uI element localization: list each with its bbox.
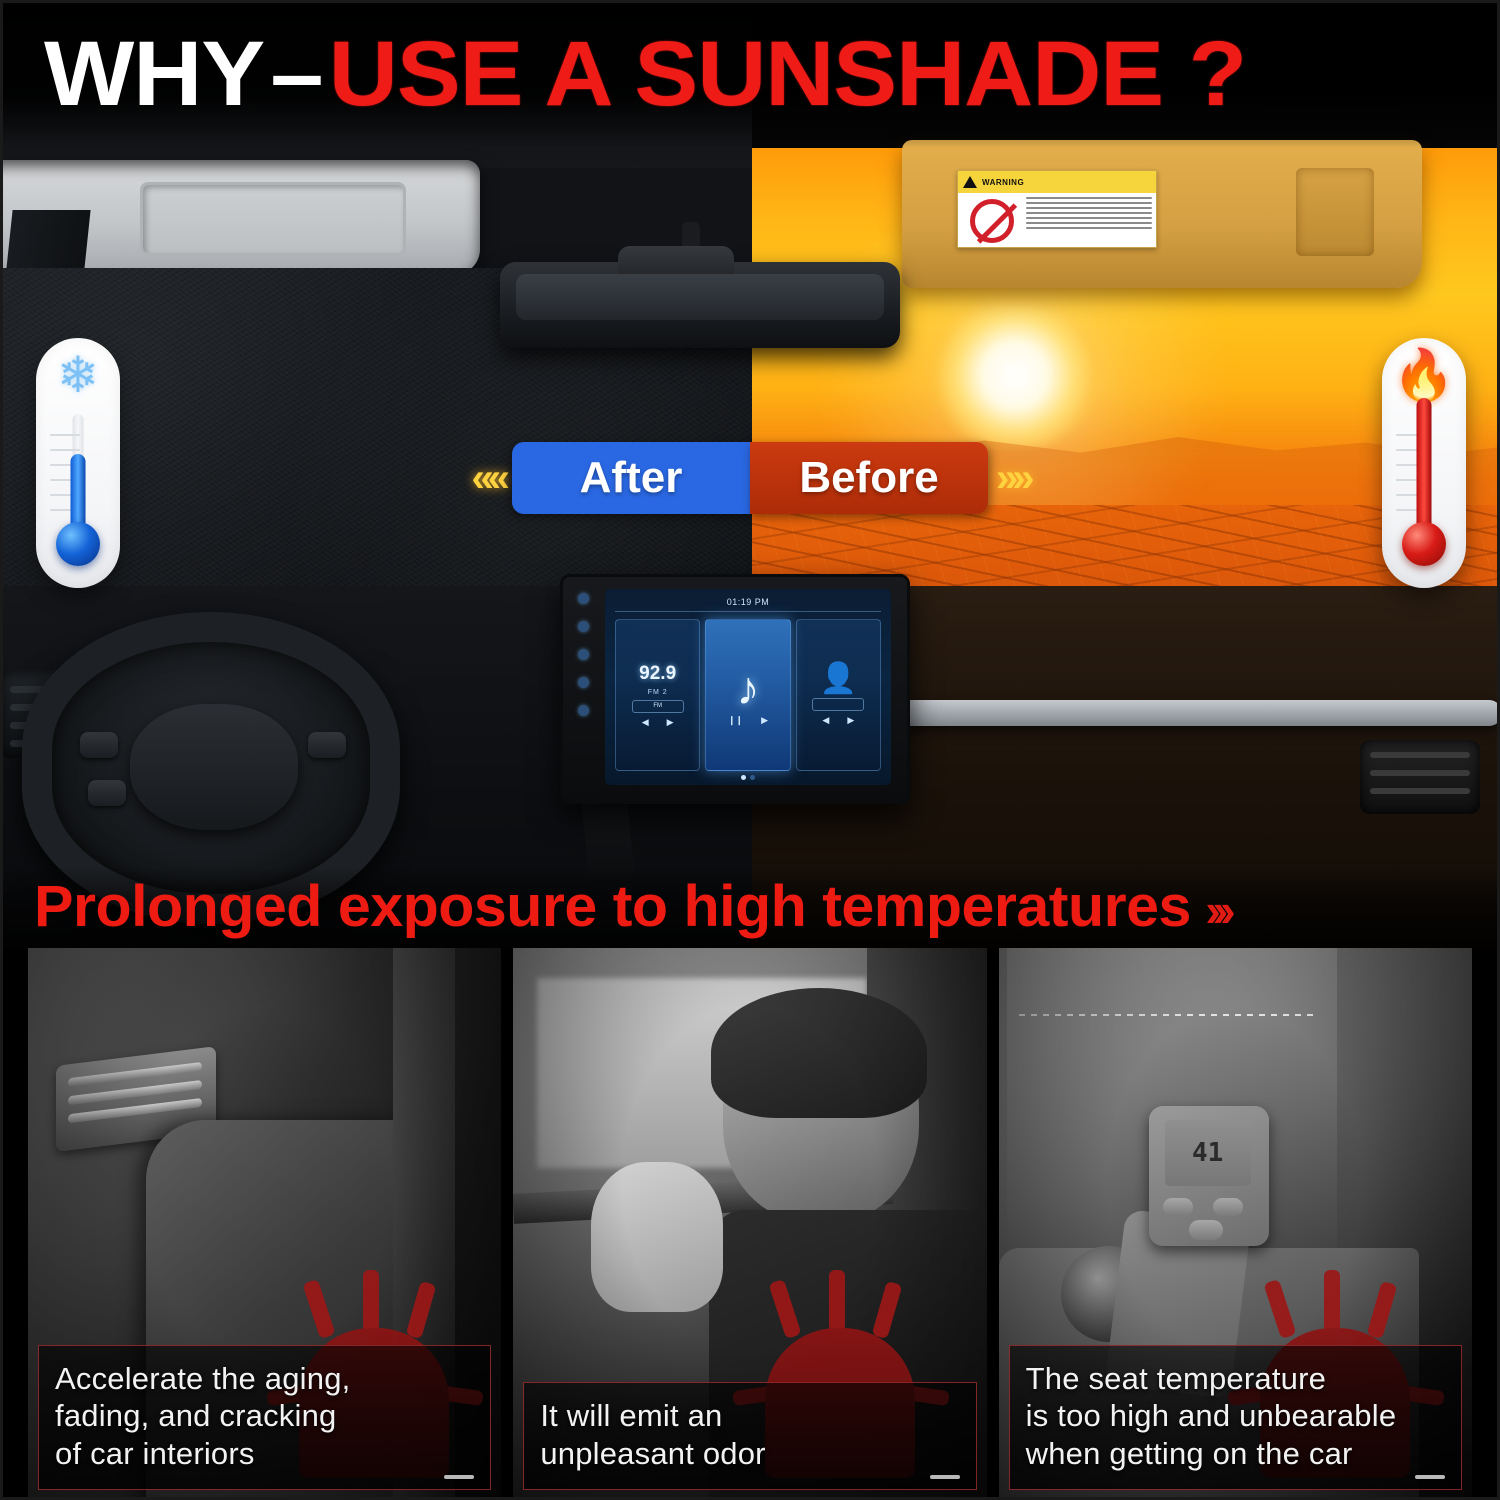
before-after-badge-group: «« After Before »» [0, 432, 1500, 524]
side-button-menu-icon[interactable] [578, 705, 589, 716]
page-title: WHY–USE A SUNSHADE ? [44, 28, 1246, 120]
side-button-nav-icon[interactable] [578, 677, 589, 688]
warning-label-header: WARNING [958, 171, 1156, 193]
snowflake-icon: ❄ [36, 350, 120, 400]
radio-prev-icon[interactable]: ◀ [642, 717, 649, 728]
before-badge[interactable]: Before [750, 442, 988, 514]
caption-line-3-1: The seat temperature [1026, 1360, 1445, 1398]
panel-caption-3: The seat temperature is too high and unb… [1009, 1345, 1462, 1490]
radio-tune-controls[interactable]: ◀ ▶ [642, 717, 674, 728]
cold-thermometer-bulb [56, 522, 100, 566]
warning-label-body [958, 193, 1156, 248]
contact-browse-controls[interactable]: ◀ ▶ [822, 715, 854, 726]
rear-view-mirror [500, 262, 900, 348]
sunshade-infographic-poster: WARNING [0, 0, 1500, 1500]
radio-band-label: FM 2 [648, 689, 668, 696]
media-play-icon[interactable]: ▶ [761, 715, 768, 726]
caption-underscore-3 [1415, 1475, 1445, 1479]
phone-contact-card[interactable]: 👤 ◀ ▶ [796, 619, 881, 771]
music-note-icon: ♪ [736, 665, 759, 711]
side-button-home-icon[interactable] [578, 621, 589, 632]
radio-frequency-value: 92.9 [639, 663, 676, 685]
warning-label-heading: WARNING [982, 178, 1024, 187]
caption-line-1-3: of car interiors [55, 1435, 474, 1473]
caption-line-2-2: unpleasant odor [540, 1435, 959, 1473]
panel-caption-2: It will emit an unpleasant odor [523, 1382, 976, 1490]
contact-next-icon[interactable]: ▶ [847, 715, 854, 726]
hot-thermometer: 🔥 [1382, 338, 1466, 588]
title-word-why: WHY [44, 23, 264, 125]
hot-thermometer-fill [1417, 398, 1432, 540]
panel-caption-1: Accelerate the aging, fading, and cracki… [38, 1345, 491, 1490]
mirror-glass [516, 274, 884, 320]
title-highlight: USE A SUNSHADE ? [329, 23, 1246, 125]
person-avatar-icon: 👤 [820, 664, 857, 694]
status-bar-divider [615, 611, 881, 612]
infotainment-screen[interactable]: 01:19 PM 92.9 FM 2 FM ◀ ▶ ♪ [605, 589, 891, 785]
page-dot-active [741, 775, 746, 780]
caption-line-2-1: It will emit an [540, 1397, 959, 1435]
flame-icon: 🔥 [1382, 350, 1466, 400]
panel-interior-aging: Accelerate the aging, fading, and cracki… [28, 948, 501, 1500]
side-button-power-icon[interactable] [578, 593, 589, 604]
radio-next-icon[interactable]: ▶ [667, 717, 674, 728]
panel-unpleasant-odor: It will emit an unpleasant odor [513, 948, 986, 1500]
warning-triangle-icon [963, 176, 977, 188]
poster-title-bar: WHY–USE A SUNSHADE ? [0, 0, 1500, 148]
panel-hot-seat-temperature: 41 The seat temperature is too high and … [999, 948, 1472, 1500]
steering-wheel-button-left [80, 732, 118, 758]
warning-label-text-lines [1026, 193, 1156, 248]
infotainment-clock: 01:19 PM [727, 597, 770, 607]
infotainment-side-buttons[interactable] [569, 593, 597, 716]
infotainment-head-unit: 01:19 PM 92.9 FM 2 FM ◀ ▶ ♪ [560, 574, 910, 804]
chevron-left-icon: «« [472, 458, 505, 498]
hot-thermometer-bulb [1402, 522, 1446, 566]
visor-mirror-tab-left [162, 190, 184, 242]
caption-line-3-3: when getting on the car [1026, 1435, 1445, 1473]
media-pause-icon[interactable]: ❙❙ [728, 715, 743, 726]
media-transport-controls[interactable]: ❙❙ ▶ [728, 715, 768, 726]
headline-chevrons-icon: ››› [1205, 884, 1227, 936]
sun-visor-right: WARNING [902, 140, 1422, 288]
steering-wheel-button-lower [88, 780, 126, 806]
steering-wheel-hub [130, 704, 298, 830]
steering-wheel-button-right [308, 732, 346, 758]
section-headline-text: Prolonged exposure to high temperatures [34, 874, 1191, 939]
consequence-panel-row: Accelerate the aging, fading, and cracki… [0, 948, 1500, 1500]
caption-line-1-2: fading, and cracking [55, 1397, 474, 1435]
side-button-media-icon[interactable] [578, 649, 589, 660]
cold-thermometer: ❄ [36, 338, 120, 588]
infotainment-card-row: 92.9 FM 2 FM ◀ ▶ ♪ ❙❙ ▶ [615, 619, 881, 771]
no-child-seat-icon [958, 193, 1026, 248]
phone-action-pill[interactable] [812, 698, 864, 711]
caption-underscore-2 [930, 1475, 960, 1479]
airbag-warning-label: WARNING [957, 170, 1157, 248]
page-dot-2 [750, 775, 755, 780]
dashboard-chrome-trim [842, 700, 1500, 726]
media-card[interactable]: ♪ ❙❙ ▶ [705, 619, 790, 771]
radio-preset-pill[interactable]: FM [632, 700, 684, 713]
contact-prev-icon[interactable]: ◀ [822, 715, 829, 726]
caption-underscore-1 [444, 1475, 474, 1479]
page-indicator-dots[interactable] [605, 775, 891, 780]
caption-line-1-1: Accelerate the aging, [55, 1360, 474, 1398]
radio-card[interactable]: 92.9 FM 2 FM ◀ ▶ [615, 619, 700, 771]
sun-disc [930, 300, 1100, 450]
title-dash: – [264, 23, 329, 125]
air-vent-right [1360, 740, 1480, 814]
visor-pocket-right [1296, 168, 1374, 256]
section-headline: Prolonged exposure to high temperatures›… [34, 878, 1228, 936]
section-headline-bar: Prolonged exposure to high temperatures›… [0, 866, 1500, 948]
infotainment-status-bar: 01:19 PM [605, 593, 891, 611]
after-badge[interactable]: After [512, 442, 750, 514]
caption-line-3-2: is too high and unbearable [1026, 1397, 1445, 1435]
chevron-right-icon: »» [996, 458, 1029, 498]
